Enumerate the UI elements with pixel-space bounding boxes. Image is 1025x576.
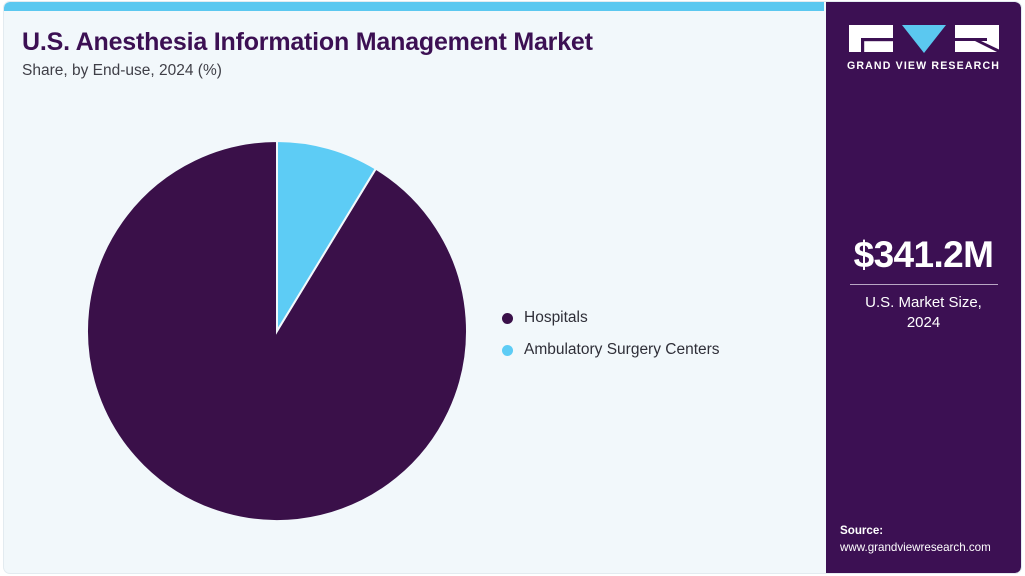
source-block: Source: www.grandviewresearch.com [840, 523, 1021, 557]
divider [850, 284, 998, 285]
brand-logo[interactable]: GRAND VIEW RESEARCH [826, 24, 1021, 72]
chart-infographic: U.S. Anesthesia Information Management M… [0, 0, 1025, 576]
legend-item-hospitals[interactable]: Hospitals [502, 302, 802, 334]
source-label: Source: [840, 523, 1021, 540]
top-accent-bar [4, 2, 824, 11]
chart-legend: Hospitals Ambulatory Surgery Centers [502, 302, 802, 366]
pie-chart-svg [82, 136, 472, 526]
gvr-logo-mark-icon [849, 24, 999, 54]
side-panel: GRAND VIEW RESEARCH $341.2M U.S. Market … [826, 2, 1021, 573]
chart-card: U.S. Anesthesia Information Management M… [4, 2, 1021, 573]
legend-swatch-icon [502, 345, 513, 356]
brand-logo-text: GRAND VIEW RESEARCH [826, 60, 1021, 72]
legend-item-label: Ambulatory Surgery Centers [524, 341, 720, 359]
market-size-value: $341.2M [826, 236, 1021, 275]
legend-item-label: Hospitals [524, 309, 588, 327]
page-title: U.S. Anesthesia Information Management M… [22, 28, 593, 57]
legend-item-ambulatory-surgery-centers[interactable]: Ambulatory Surgery Centers [502, 334, 802, 366]
pie-chart [82, 136, 472, 526]
market-size-caption: U.S. Market Size, 2024 [826, 293, 1021, 334]
market-size-callout: $341.2M U.S. Market Size, 2024 [826, 236, 1021, 333]
page-subtitle: Share, by End-use, 2024 (%) [22, 62, 222, 80]
source-url[interactable]: www.grandviewresearch.com [840, 540, 1021, 557]
legend-swatch-icon [502, 313, 513, 324]
